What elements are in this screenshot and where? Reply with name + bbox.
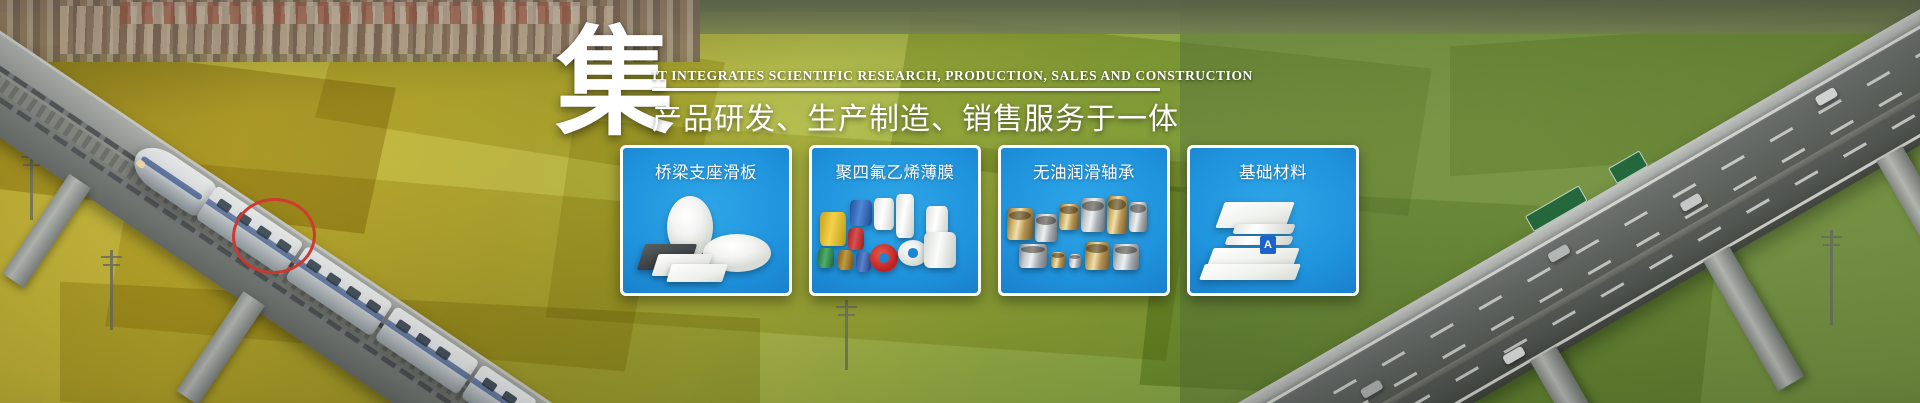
headline-divider [652, 88, 1160, 91]
ptfe-plate [666, 264, 728, 282]
product-card-title: 聚四氟乙烯薄膜 [812, 159, 978, 183]
film-ring [870, 244, 898, 272]
film-roll [820, 212, 846, 246]
utility-pole [845, 300, 848, 370]
headline-tagline-english: IT INTEGRATES SCIENTIFIC RESEARCH, PRODU… [652, 68, 1176, 84]
bronze-bushing [1051, 252, 1065, 268]
product-card-bridge-bearing-plate[interactable]: 桥梁支座滑板 [620, 145, 792, 296]
material-rod [1224, 236, 1293, 245]
steel-bushing [1069, 254, 1081, 268]
base-material-icon: A [1190, 192, 1356, 287]
film-roll [850, 200, 872, 226]
steel-bushing [1113, 244, 1139, 270]
bronze-bushing [1107, 196, 1127, 234]
material-block [1199, 264, 1301, 280]
material-rod [1232, 224, 1296, 234]
film-roll [856, 252, 871, 272]
bridge-bearing-plate-icon [623, 192, 789, 287]
bronze-bushing [1007, 208, 1033, 240]
headline-block: 集 IT INTEGRATES SCIENTIFIC RESEARCH, PRO… [556, 24, 1176, 144]
material-label-badge: A [1260, 236, 1276, 254]
steel-bushing [1081, 198, 1105, 232]
village-roofs [120, 2, 580, 24]
product-card-row: 桥梁支座滑板 聚四氟乙烯薄膜 [620, 145, 1359, 296]
headline-tagline-chinese: 产品研发、生产制造、销售服务于一体 [652, 94, 1176, 138]
oil-free-bearing-icon [1001, 192, 1167, 287]
film-roll [838, 250, 853, 270]
highway-pier [1703, 246, 1804, 391]
film-roll [924, 232, 956, 268]
product-card-title: 无油润滑轴承 [1001, 159, 1167, 183]
highway-pier [1530, 346, 1631, 403]
bronze-bushing [1059, 204, 1079, 230]
bronze-bushing [1085, 242, 1109, 270]
steel-bushing [1129, 202, 1147, 232]
product-card-oil-free-bearing[interactable]: 无油润滑轴承 [998, 145, 1170, 296]
steel-bushing [1035, 214, 1057, 242]
film-roll [818, 248, 834, 268]
film-roll [874, 198, 894, 230]
film-roll [896, 194, 914, 238]
film-roll [848, 228, 864, 250]
product-card-title: 基础材料 [1190, 159, 1356, 183]
product-card-ptfe-film[interactable]: 聚四氟乙烯薄膜 [809, 145, 981, 296]
product-card-title: 桥梁支座滑板 [623, 159, 789, 183]
ptfe-film-icon [812, 192, 978, 287]
product-card-base-material[interactable]: 基础材料 A [1187, 145, 1359, 296]
steel-bushing [1019, 244, 1047, 268]
highway-pier [1876, 146, 1920, 291]
hero-banner: 集 IT INTEGRATES SCIENTIFIC RESEARCH, PRO… [0, 0, 1920, 403]
